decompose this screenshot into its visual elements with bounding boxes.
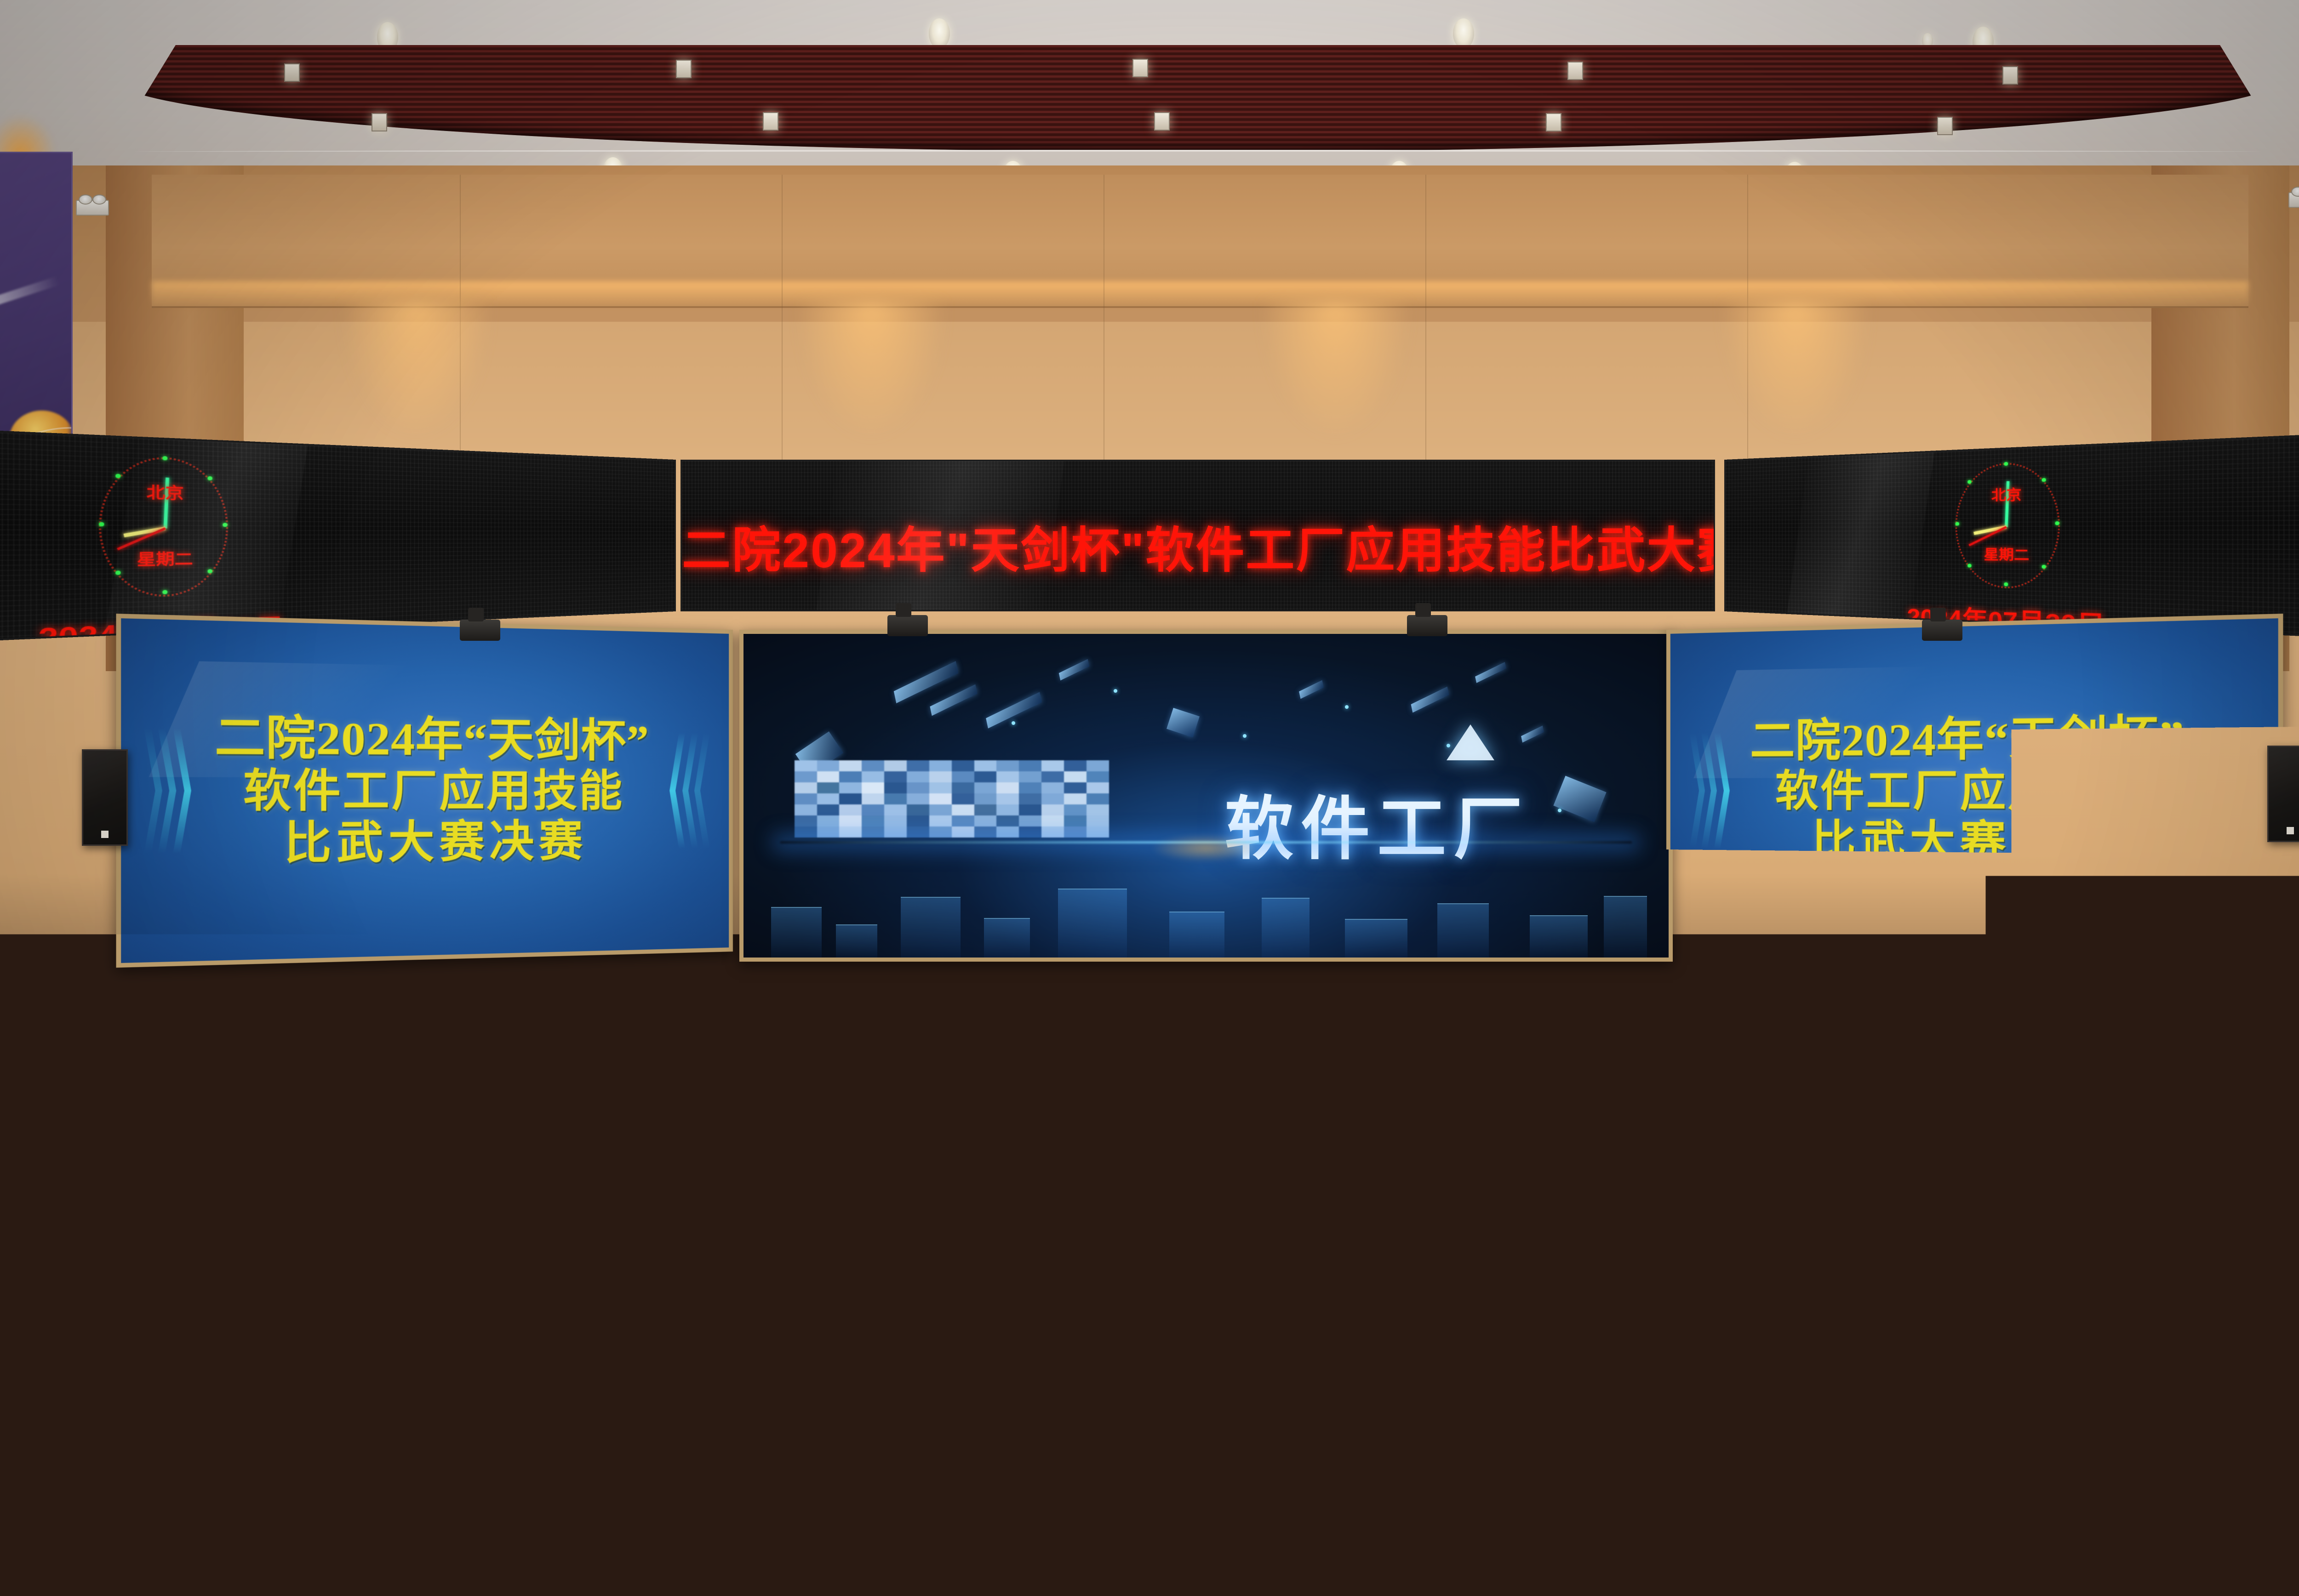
thermos-flask bbox=[175, 1101, 205, 1171]
paper-sheet bbox=[283, 1499, 461, 1577]
name-placard: 李 军 中国航天科工二院二部 bbox=[105, 1237, 182, 1276]
water-bottle bbox=[1094, 1336, 1121, 1413]
wall-speaker-left bbox=[82, 749, 128, 846]
name-placard: 尚政国 中国航天科工二院二部 bbox=[115, 1324, 192, 1363]
left-screen-line3: 比武大赛决赛 bbox=[121, 815, 729, 872]
clock-weekday-label: 星期二 bbox=[137, 547, 193, 570]
water-bottle bbox=[2000, 1443, 2029, 1526]
panel-spotlight bbox=[676, 60, 692, 78]
panel-spotlight bbox=[763, 112, 778, 131]
chevron-up-icon bbox=[1447, 724, 1494, 760]
right-screen-line1: 二院2024年“天剑杯” bbox=[1670, 710, 2278, 766]
name-placard: 宋宏志 中国航天科工二院二部 bbox=[155, 1174, 233, 1214]
clock-city-label: 北京 bbox=[1991, 484, 2022, 504]
panel-spotlight bbox=[1154, 112, 1170, 131]
panel-spotlight bbox=[372, 113, 387, 131]
ceiling-downlight bbox=[929, 18, 950, 49]
led-clock-right: 北京 星期二 bbox=[1956, 461, 2060, 593]
led-panel-right: 北京 星期二 2024年07月30日 bbox=[1724, 430, 2299, 640]
name-placard: 杜 鑫 中国航天科工二院二部 bbox=[1975, 1256, 2053, 1296]
led-panel-center: 二院2024年"天剑杯"软件工厂应用技能比武大赛决赛 bbox=[681, 460, 1715, 611]
name-placard: 李 超 中国航天科工二院二部 bbox=[2189, 1129, 2266, 1168]
led-banner-title: 二院2024年"天剑杯"软件工厂应用技能比武大赛决赛 bbox=[682, 511, 1714, 581]
wall-uplight-glow bbox=[1720, 301, 1871, 439]
panel-spotlight bbox=[2002, 66, 2018, 85]
organisation-emblem-icon bbox=[213, 1054, 252, 1097]
right-projection-screen: 二院2024年“天剑杯” 软件工厂应用技能 比武大赛决赛 bbox=[1666, 614, 2283, 968]
clock-weekday-label: 星期二 bbox=[1984, 544, 2030, 564]
name-placard: 郭天月 中国航天科工二院二部 bbox=[1029, 1138, 1106, 1177]
right-screen-line3: 比武大赛决赛 bbox=[1670, 815, 2278, 872]
name-placard: 宋亚敏 中国航天科工二院二部 bbox=[432, 1172, 509, 1212]
panel-spotlight bbox=[1132, 59, 1148, 77]
attendee bbox=[1315, 1090, 1416, 1165]
left-screen-line2: 软件工厂应用技能 bbox=[121, 764, 729, 818]
led-clock-left: 北京 星期二 bbox=[99, 455, 228, 601]
emergency-light-icon bbox=[76, 200, 109, 216]
water-bottle bbox=[1387, 1180, 1406, 1234]
center-screen-title: 软件工厂 bbox=[1224, 773, 1530, 873]
ceiling-downlight bbox=[1453, 18, 1474, 49]
wall-uplight-glow bbox=[340, 301, 492, 439]
projector-mount bbox=[460, 620, 500, 641]
desk-microphone-base bbox=[2037, 1185, 2081, 1208]
projector-mount bbox=[1922, 620, 1962, 641]
projector-mount bbox=[887, 615, 928, 636]
attendee-foreground bbox=[681, 1282, 1002, 1596]
right-screen-line2: 软件工厂应用技能 bbox=[1670, 764, 2278, 818]
attendee bbox=[64, 1083, 175, 1161]
panel-spotlight bbox=[1546, 113, 1561, 131]
panel-spotlight bbox=[1937, 117, 1953, 135]
led-banner: 北京 星期二 2024年07月30日 二院2024年"天剑杯"软件工厂应用技能比… bbox=[152, 460, 2248, 611]
name-placard: 孔 雪 中国航天科工二院二部 bbox=[1623, 1135, 1700, 1175]
attendee bbox=[294, 1137, 409, 1226]
screen-wall: 二院2024年“天剑杯” 软件工厂应用技能 比武大赛决赛 bbox=[0, 630, 2299, 979]
panel-spotlight bbox=[1567, 62, 1583, 80]
stage-metal-rail bbox=[152, 1043, 2248, 1054]
attendee bbox=[1816, 1088, 1920, 1163]
masked-text-region bbox=[795, 760, 1109, 838]
center-projection-screen: 软件工厂 bbox=[739, 630, 1673, 962]
desk-mat bbox=[1030, 1407, 1287, 1434]
clock-city-label: 北京 bbox=[147, 480, 184, 503]
wall-upper-panel bbox=[152, 175, 2248, 308]
attendee bbox=[1122, 1158, 1260, 1317]
projector-mount bbox=[1407, 615, 1447, 636]
left-screen-line1: 二院2024年“天剑杯” bbox=[121, 710, 729, 766]
wall-uplight-glow bbox=[795, 301, 947, 439]
attendee-foreground bbox=[1481, 1255, 1812, 1596]
auditorium-photo: NT 总体 THE OVE 北京 bbox=[0, 0, 2299, 1596]
panel-spotlight bbox=[284, 63, 300, 82]
paper-sheet bbox=[275, 1349, 428, 1396]
name-placard: 王爱东 中国航天科工二院二部 bbox=[427, 1216, 504, 1255]
wall-uplight-glow bbox=[1260, 301, 1412, 439]
name-placard: 关 毅 中国航天科工二院二部 bbox=[2106, 1181, 2183, 1221]
wall-speaker-right bbox=[2267, 746, 2299, 842]
left-projection-screen: 二院2024年“天剑杯” 软件工厂应用技能 比武大赛决赛 bbox=[116, 614, 733, 968]
emergency-light-icon bbox=[2288, 192, 2299, 208]
led-panel-left: 北京 星期二 2024年07月30日 bbox=[0, 430, 676, 640]
